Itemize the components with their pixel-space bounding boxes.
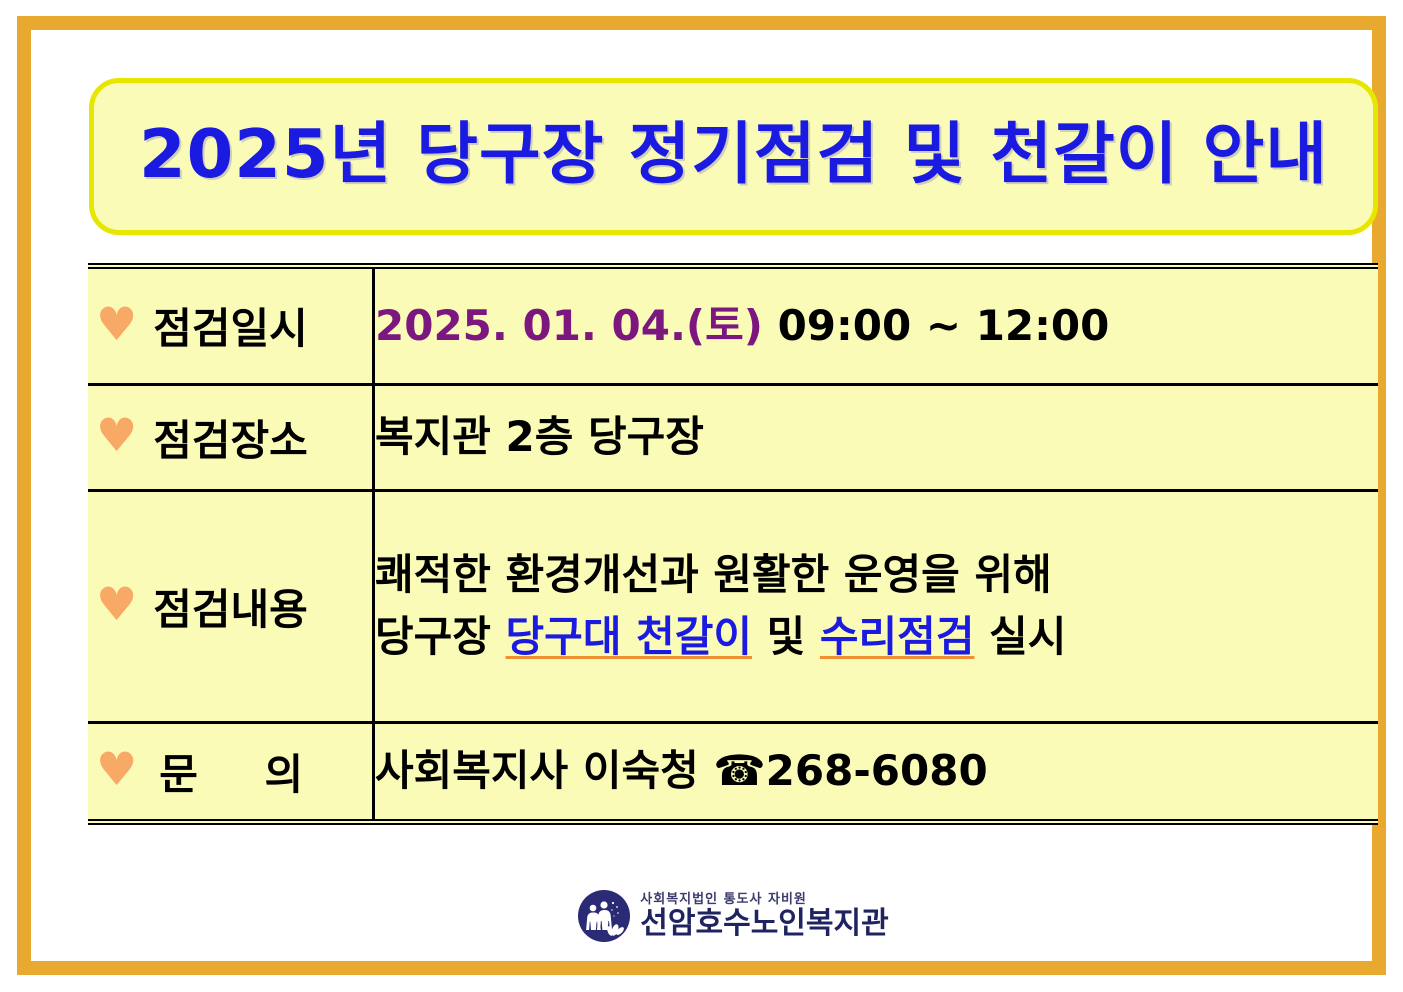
table-row-contact: ♥ 문 의 사회복지사 이숙청 ☎268-6080: [88, 722, 1378, 822]
heart-icon: ♥: [96, 412, 137, 458]
table-row-inspection-details: ♥ 점검내용 쾌적한 환경개선과 원활한 운영을 위해 당구장 당구대 천갈이 …: [88, 490, 1378, 722]
inspection-location-value: 복지관 2층 당구장: [375, 407, 1378, 467]
inspection-details-line-1: 쾌적한 환경개선과 원활한 운영을 위해: [375, 544, 1378, 606]
row-label-inspection-location: 점검장소: [153, 407, 308, 468]
table-row-inspection-datetime: ♥ 점검일시 2025. 01. 04.(토) 09:00 ~ 12:00: [88, 266, 1378, 384]
notice-info-table: ♥ 점검일시 2025. 01. 04.(토) 09:00 ~ 12:00 ♥ …: [88, 263, 1378, 825]
row-label-inspection-details: 점검내용: [153, 576, 308, 637]
value-cell-inspection-details: 쾌적한 환경개선과 원활한 운영을 위해 당구장 당구대 천갈이 및 수리점검 …: [374, 490, 1379, 722]
heart-icon: ♥: [96, 581, 137, 627]
contact-value: 사회복지사 이숙청 ☎268-6080: [375, 741, 1378, 801]
footer-logo-area: 사회복지법인 통도사 자비원 선암호수노인복지관: [31, 888, 1403, 944]
logo-wordmark: 사회복지법인 통도사 자비원 선암호수노인복지관: [640, 893, 888, 939]
title-banner: 2025년 당구장 정기점검 및 천갈이 안내: [89, 78, 1378, 235]
details-highlight-repair: 수리점검: [820, 612, 975, 661]
row-label-inspection-datetime: 점검일시: [153, 295, 308, 356]
value-cell-inspection-location: 복지관 2층 당구장: [374, 384, 1379, 490]
organization-logo: 사회복지법인 통도사 자비원 선암호수노인복지관: [576, 888, 888, 944]
heart-icon: ♥: [96, 746, 137, 792]
inspection-details-value: 쾌적한 환경개선과 원활한 운영을 위해 당구장 당구대 천갈이 및 수리점검 …: [375, 544, 1378, 668]
label-cell-inspection-location: ♥ 점검장소: [88, 384, 374, 490]
inspection-date-text: 2025. 01. 04.(토): [375, 301, 778, 350]
logo-center-name: 선암호수노인복지관: [640, 909, 888, 939]
heart-icon: ♥: [96, 301, 137, 347]
page-title: 2025년 당구장 정기점검 및 천갈이 안내: [139, 121, 1328, 192]
poster-root: 2025년 당구장 정기점검 및 천갈이 안내 ♥ 점검일시 2025. 01.…: [0, 0, 1403, 992]
value-cell-contact: 사회복지사 이숙청 ☎268-6080: [374, 722, 1379, 822]
details-highlight-recloth: 당구대 천갈이: [506, 612, 752, 661]
label-cell-inspection-details: ♥ 점검내용: [88, 490, 374, 722]
value-cell-inspection-datetime: 2025. 01. 04.(토) 09:00 ~ 12:00: [374, 266, 1379, 384]
row-label-contact: 문 의: [153, 741, 329, 802]
details-conjunction-text: 및: [752, 612, 820, 661]
details-prefix-text: 당구장: [375, 612, 506, 661]
inspection-details-line-2: 당구장 당구대 천갈이 및 수리점검 실시: [375, 606, 1378, 668]
logo-foundation-name: 사회복지법인 통도사 자비원: [640, 893, 888, 906]
inspection-time-text: 09:00 ~ 12:00: [778, 301, 1110, 350]
welfare-center-emblem-icon: [576, 888, 632, 944]
inspection-datetime-value: 2025. 01. 04.(토) 09:00 ~ 12:00: [375, 296, 1378, 356]
label-cell-inspection-datetime: ♥ 점검일시: [88, 266, 374, 384]
table-row-inspection-location: ♥ 점검장소 복지관 2층 당구장: [88, 384, 1378, 490]
label-cell-contact: ♥ 문 의: [88, 722, 374, 822]
details-suffix-text: 실시: [974, 612, 1066, 661]
poster-outer-frame: 2025년 당구장 정기점검 및 천갈이 안내 ♥ 점검일시 2025. 01.…: [17, 16, 1386, 975]
